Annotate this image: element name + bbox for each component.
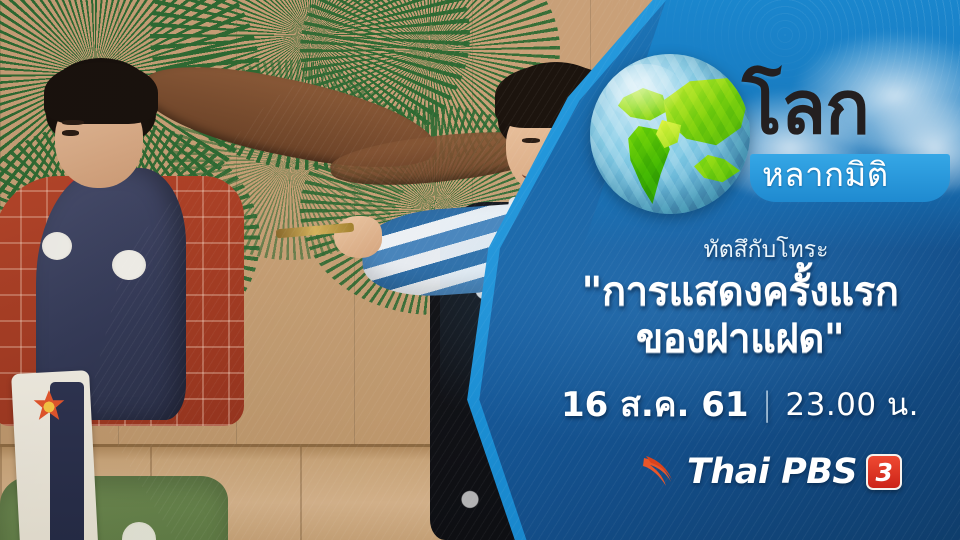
eyebrow xyxy=(62,120,84,125)
eye xyxy=(62,130,79,136)
airtime-row: 16 ส.ค. 61 | 23.00 น. xyxy=(520,377,960,431)
program-logo-subtitle: หลากมิติ xyxy=(762,158,889,191)
performer-left-costume xyxy=(0,176,266,540)
eye xyxy=(522,138,540,143)
performer-left xyxy=(0,46,266,540)
broadcaster-name: Thai PBS xyxy=(687,452,857,492)
broadcast-promo-card: โลก หลากมิติ ทัตสึกับโทระ "การแสดงครั้งแ… xyxy=(0,0,960,540)
family-crest xyxy=(42,232,72,260)
air-time: 23.00 น. xyxy=(785,379,919,429)
episode-title: "การแสดงครั้งแรก ของฝาแฝด" xyxy=(520,269,960,363)
episode-info: ทัตสึกับโทระ "การแสดงครั้งแรก ของฝาแฝด" … xyxy=(520,236,960,431)
thaipbs-bird-icon xyxy=(640,452,678,492)
globe-highlight xyxy=(606,64,684,120)
family-crest xyxy=(112,250,146,280)
performer-left-head xyxy=(46,58,156,188)
airtime-separator: | xyxy=(762,385,773,423)
episode-title-line2: ของฝาแฝด" xyxy=(520,316,960,363)
episode-title-line1: "การแสดงครั้งแรก xyxy=(582,269,899,315)
broadcaster-logo: Thai PBS 3 xyxy=(640,452,902,492)
air-date: 16 ส.ค. 61 xyxy=(561,377,749,431)
channel-number-badge: 3 xyxy=(866,454,902,490)
episode-kicker: ทัตสึกับโทระ xyxy=(520,236,960,265)
hand xyxy=(334,216,382,258)
globe-icon xyxy=(590,54,750,214)
hair-front xyxy=(44,62,158,124)
program-logo: โลก หลากมิติ xyxy=(590,48,960,228)
program-logo-title: โลก xyxy=(742,72,869,145)
